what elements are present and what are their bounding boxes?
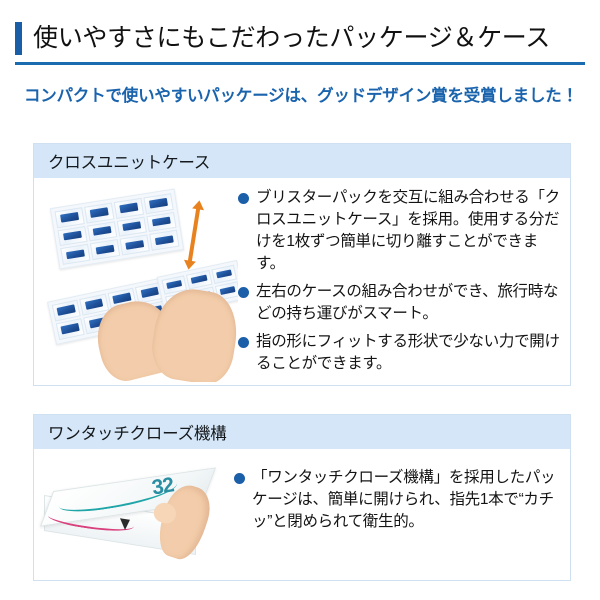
panel-one-touch: ワンタッチクローズ機構 32 「ワンタッチクローズ機構」を採用したパッケージは、…: [33, 414, 571, 581]
blister-cell: [57, 226, 87, 247]
blister-cell: [149, 230, 179, 251]
list-item: 左右のケースの組み合わせができ、旅行時などの持ち運びがスマート。: [238, 281, 564, 325]
page-title: 使いやすさにもこだわったパッケージ＆ケース: [33, 22, 550, 55]
blister-cell: [114, 198, 144, 219]
panel-cross-unit: クロスユニットケース: [33, 143, 571, 386]
list-item: 指の形にフィットする形状で少ない力で開けることができます。: [238, 331, 564, 375]
title-divider: [15, 62, 585, 65]
blister-cell: [84, 202, 114, 223]
box-notch-icon: [120, 518, 130, 531]
bullet-dot-icon: [238, 337, 249, 348]
list-item: 「ワンタッチクローズ機構」を採用したパッケージは、簡単に開けられ、指先1本で“カ…: [234, 467, 564, 533]
panel-cross-unit-bullets: ブリスターパックを交互に組み合わせる「クロスユニットケース」を採用。使用する分だ…: [238, 178, 570, 381]
list-item-text: 左右のケースの組み合わせができ、旅行時などの持ち運びがスマート。: [256, 281, 564, 325]
product-box-image: 32: [38, 457, 234, 577]
panel-cross-unit-title: クロスユニットケース: [48, 149, 210, 173]
page-header: 使いやすさにもこだわったパッケージ＆ケース: [0, 0, 600, 65]
blister-cell: [60, 244, 90, 265]
list-item: ブリスターパックを交互に組み合わせる「クロスユニットケース」を採用。使用する分だ…: [238, 187, 564, 275]
panel-one-touch-header: ワンタッチクローズ機構: [34, 415, 570, 449]
blister-cell: [143, 193, 173, 214]
list-item-text: 「ワンタッチクローズ機構」を採用したパッケージは、簡単に開けられ、指先1本で“カ…: [252, 467, 564, 533]
title-accent-bar: [15, 22, 22, 55]
bullet-dot-icon: [238, 287, 249, 298]
blister-pack-image: [42, 182, 238, 382]
list-item-text: 指の形にフィットする形状で少ない力で開けることができます。: [256, 331, 564, 375]
blister-cell: [120, 235, 150, 256]
blister-cell: [56, 318, 85, 340]
separation-arrow-icon: [188, 208, 200, 262]
panel-one-touch-bullets: 「ワンタッチクローズ機構」を採用したパッケージは、簡単に開けられ、指先1本で“カ…: [234, 449, 570, 539]
panel-one-touch-body: 32 「ワンタッチクローズ機構」を採用したパッケージは、簡単に開けられ、指先1本…: [34, 449, 570, 580]
bullet-dot-icon: [238, 193, 249, 204]
blister-cell: [117, 216, 147, 237]
blister-cell: [90, 239, 120, 260]
bullet-dot-icon: [234, 473, 245, 484]
blister-sheet-full: [50, 189, 184, 270]
blister-cell: [55, 207, 85, 228]
blister-cell: [87, 221, 117, 242]
blister-cell: [146, 212, 176, 233]
title-row: 使いやすさにもこだわったパッケージ＆ケース: [0, 0, 600, 55]
panel-cross-unit-header: クロスユニットケース: [34, 144, 570, 178]
list-item-text: ブリスターパックを交互に組み合わせる「クロスユニットケース」を採用。使用する分だ…: [256, 187, 564, 275]
panel-cross-unit-body: ブリスターパックを交互に組み合わせる「クロスユニットケース」を採用。使用する分だ…: [34, 178, 570, 385]
lead-paragraph: コンパクトで使いやすいパッケージは、グッドデザイン賞を受賞しました！: [24, 84, 580, 109]
panel-one-touch-title: ワンタッチクローズ機構: [48, 420, 226, 444]
